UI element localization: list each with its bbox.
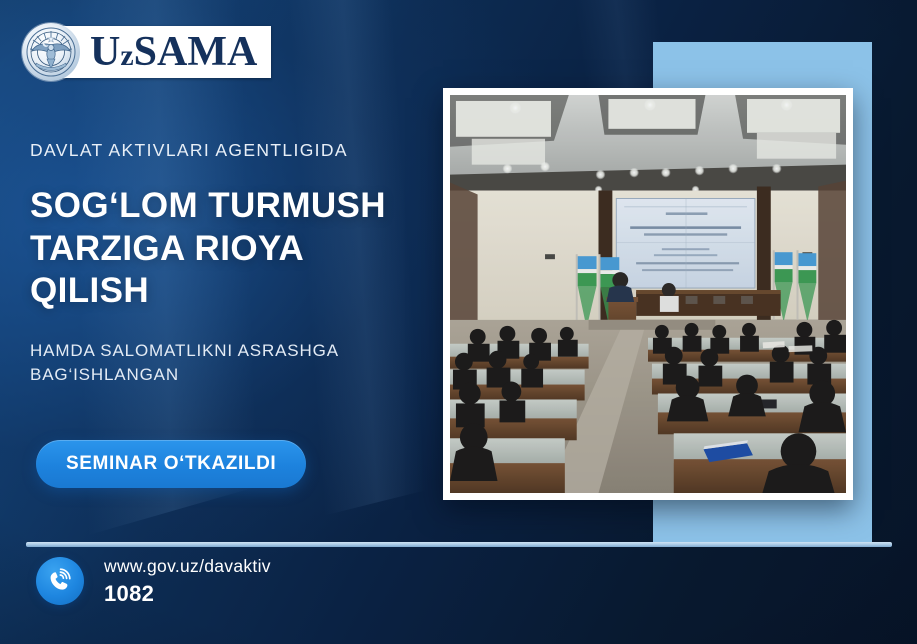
headline-line-3: QILISH	[30, 270, 450, 313]
seminar-status-badge[interactable]: SEMINAR O‘TKAZILDI	[36, 440, 306, 488]
seminar-status-label: SEMINAR O‘TKAZILDI	[66, 453, 276, 475]
footer-text-block: www.gov.uz/davaktiv 1082	[104, 556, 271, 606]
eyebrow-text: DAVLAT AKTIVLARI AGENTLIGIDA	[30, 140, 450, 161]
headline-line-2: TARZIGA RIOYA	[30, 228, 450, 271]
seminar-conference-hall-photo	[450, 95, 846, 493]
footer-contact: www.gov.uz/davaktiv 1082	[36, 556, 271, 606]
headline-line-1: SOG‘LOM TURMUSH	[30, 185, 450, 228]
footer-divider	[26, 542, 892, 547]
logo-wordmark-box: UzSAMA	[60, 26, 271, 78]
hotline-number[interactable]: 1082	[104, 581, 271, 606]
website-url[interactable]: www.gov.uz/davaktiv	[104, 556, 271, 578]
phone-call-icon[interactable]	[36, 557, 84, 605]
page-title: SOG‘LOM TURMUSH TARZIGA RIOYA QILISH	[30, 185, 450, 313]
subtitle-text: HAMDA SALOMATLIKNI ASRASHGA BAG‘ISHLANGA…	[30, 339, 450, 387]
headline-block: DAVLAT AKTIVLARI AGENTLIGIDA SOG‘LOM TUR…	[30, 140, 450, 387]
uzbekistan-state-emblem-icon	[22, 23, 80, 81]
conference-hall-illustration	[450, 95, 846, 493]
seminar-photo-frame	[443, 88, 853, 500]
subtitle-line-2: BAG‘ISHLANGAN	[30, 363, 450, 387]
uzsama-logo[interactable]: UzSAMA	[22, 22, 271, 82]
poster-canvas: UzSAMA DAVLAT AKTIVLARI AGENTLIGIDA SOG‘…	[0, 0, 917, 644]
subtitle-line-1: HAMDA SALOMATLIKNI ASRASHGA	[30, 339, 450, 363]
logo-wordmark: UzSAMA	[90, 31, 257, 73]
